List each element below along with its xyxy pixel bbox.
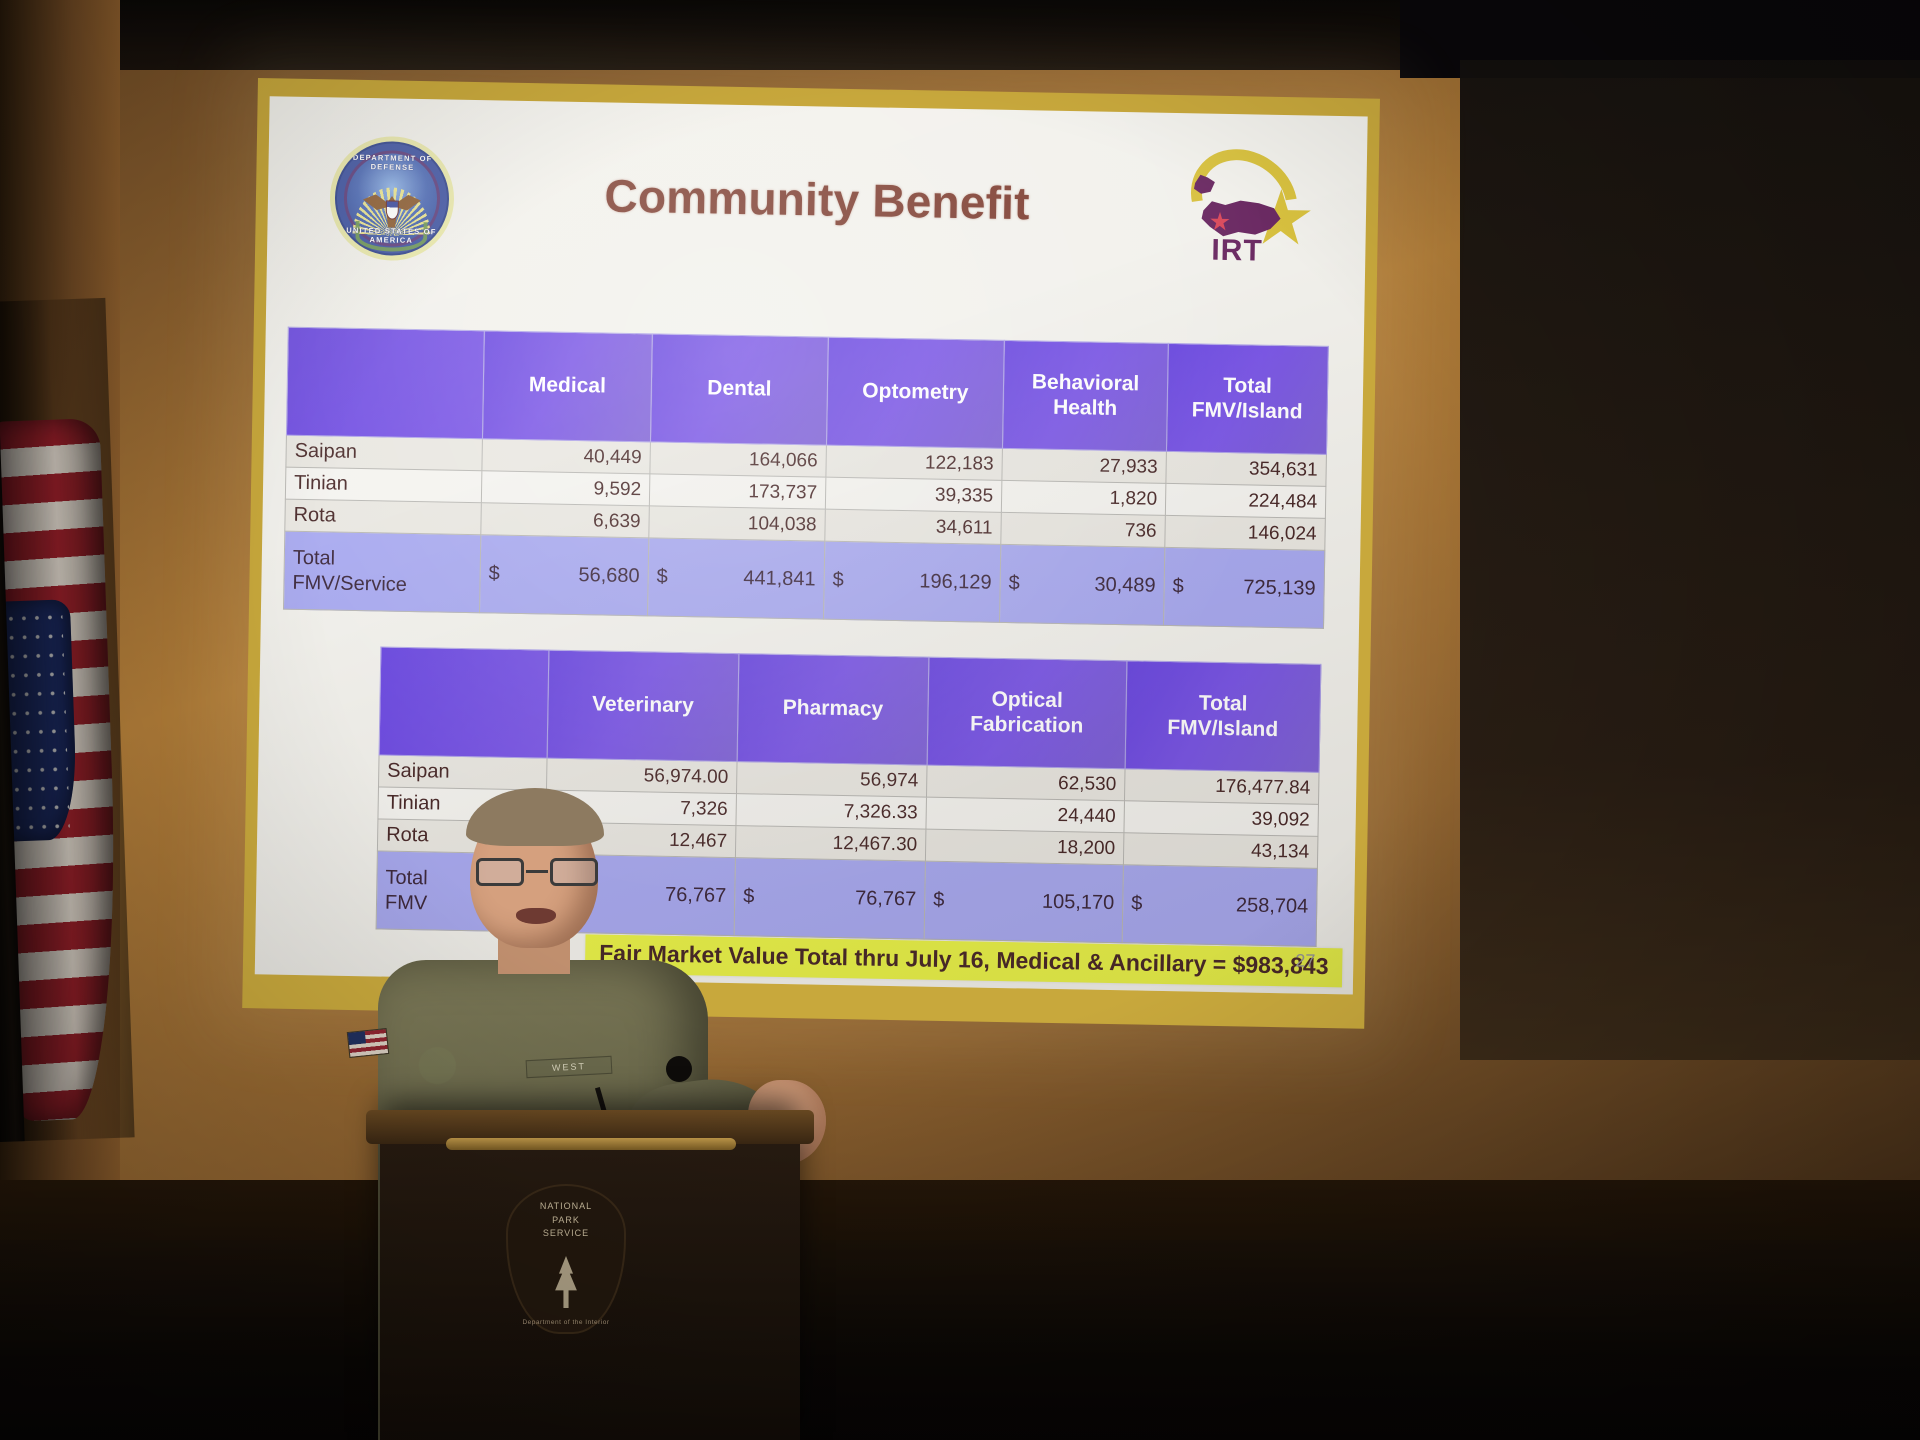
table1-rota-medical: 6,639 (481, 503, 650, 538)
table1-total-behavioral: $30,489 (999, 544, 1164, 625)
table1-tinian-total: 224,484 (1165, 483, 1326, 518)
table1-total-dental-value: 441,841 (743, 567, 816, 590)
currency-symbol: $ (1131, 892, 1143, 915)
table1-header-total-line1: Total (1223, 374, 1272, 398)
table1-saipan-dental: 164,066 (650, 442, 827, 477)
uniform-flag-patch (347, 1028, 389, 1058)
currency-symbol: $ (933, 889, 945, 912)
table1-header-total-fmv-island: Total FMV/Island (1166, 343, 1328, 454)
podium: NATIONAL PARK SERVICE Department of the … (380, 1110, 800, 1440)
currency-symbol: $ (1008, 572, 1020, 595)
table2-header-optical-line2: Fabrication (970, 712, 1084, 737)
podium-brass-rail (446, 1138, 736, 1150)
table2-tinian-optical: 24,440 (926, 797, 1125, 833)
table1-total-label-line1: Total (293, 547, 336, 570)
table1-header-total-line2: FMV/Island (1192, 398, 1303, 423)
table2-header-veterinary: Veterinary (547, 650, 739, 762)
table1-header-optometry: Optometry (826, 337, 1004, 448)
table1-total-medical-value: 56,680 (578, 564, 640, 587)
table1-total-medical: $56,680 (479, 535, 648, 616)
table2-header-optical-line1: Optical (991, 688, 1063, 712)
eyeglass-lens-right (550, 858, 598, 886)
table1-total-grand: $725,139 (1163, 547, 1324, 628)
table2-header-optical-fabrication: Optical Fabrication (927, 657, 1127, 769)
nps-badge-line3: SERVICE (508, 1227, 624, 1241)
table1-saipan-medical: 40,449 (482, 439, 651, 474)
wall-right-dark (1460, 60, 1920, 1060)
nps-badge-line2: PARK (508, 1214, 624, 1228)
table1-rota-dental: 104,038 (649, 506, 826, 541)
table2-rota-total: 43,134 (1123, 833, 1318, 869)
currency-symbol: $ (832, 569, 844, 592)
slide-page-number: 27 (1295, 950, 1315, 971)
table2-tinian-total: 39,092 (1124, 801, 1319, 837)
conference-room: DEPARTMENT OF DEFENSE UNITED STATES OF A… (0, 0, 1920, 1440)
table1-header-row: Medical Dental Optometry Behavioral Heal… (286, 327, 1328, 454)
community-benefit-table-primary: Medical Dental Optometry Behavioral Heal… (283, 327, 1329, 629)
floor (0, 1240, 1920, 1440)
table1-header-blank (286, 327, 484, 439)
table1-total-dental: $441,841 (647, 538, 824, 619)
nps-badge-subtext: Department of the Interior (508, 1318, 624, 1328)
irt-logo-icon: IRT (1185, 147, 1315, 265)
table1-header-behavioral-line2: Health (1053, 395, 1118, 419)
table1-saipan-total: 354,631 (1166, 451, 1327, 486)
table2-header-pharmacy: Pharmacy (737, 654, 929, 766)
table1-total-label: Total FMV/Service (283, 531, 480, 613)
table1-rota-behavioral: 736 (1001, 512, 1166, 547)
table1-total-grand-value: 725,139 (1243, 576, 1316, 599)
table1-tinian-optometry: 39,335 (825, 477, 1002, 512)
currency-symbol: $ (1172, 575, 1184, 598)
table1-header-behavioral-line1: Behavioral (1032, 371, 1140, 396)
table1-saipan-behavioral: 27,933 (1002, 448, 1167, 483)
table1-rota-optometry: 34,611 (825, 509, 1002, 544)
table1-header-dental: Dental (650, 334, 828, 445)
national-park-service-badge-icon: NATIONAL PARK SERVICE Department of the … (506, 1184, 626, 1334)
speaker-hair (466, 788, 604, 846)
table2-saipan-optical: 62,530 (926, 765, 1125, 801)
irt-logo-text: IRT (1211, 236, 1263, 267)
dod-seal-bottom-text: UNITED STATES OF AMERICA (334, 225, 448, 245)
table2-total-optical: $105,170 (924, 861, 1123, 943)
nps-tree-icon (550, 1256, 582, 1308)
table2-header-total-line1: Total (1199, 692, 1248, 716)
table1-total-optometry-value: 196,129 (919, 570, 992, 593)
currency-symbol: $ (656, 566, 668, 589)
eyeglasses-icon (476, 858, 598, 888)
table2-header-total-line2: FMV/Island (1167, 716, 1278, 741)
eyeglass-lens-left (476, 858, 524, 886)
table1-saipan-optometry: 122,183 (826, 445, 1003, 480)
table2-saipan-total: 176,477.84 (1124, 769, 1319, 805)
table1-header-behavioral-health: Behavioral Health (1002, 340, 1168, 451)
table2-total-grand-value: 258,704 (1236, 894, 1309, 917)
table1-row-label-saipan: Saipan (286, 435, 483, 471)
table2-header-blank (379, 647, 549, 758)
table1-header-medical: Medical (482, 331, 652, 442)
table2-header-total-fmv-island: Total FMV/Island (1125, 661, 1321, 773)
table1-rota-total: 146,024 (1165, 515, 1326, 550)
table1-total-label-line2: FMV/Service (292, 571, 407, 595)
table1-tinian-medical: 9,592 (481, 471, 650, 506)
table1-tinian-behavioral: 1,820 (1001, 480, 1166, 515)
table1-tinian-dental: 173,737 (649, 474, 826, 509)
nps-badge-line1: NATIONAL (508, 1200, 624, 1214)
table1-total-behavioral-value: 30,489 (1094, 574, 1156, 597)
currency-symbol: $ (488, 562, 500, 585)
table2-rota-optical: 18,200 (925, 829, 1124, 865)
microphone-head-right (666, 1056, 692, 1082)
table2-total-optical-value: 105,170 (1042, 891, 1115, 914)
table1-total-optometry: $196,129 (823, 541, 1000, 622)
table2-header-row: Veterinary Pharmacy Optical Fabrication … (379, 647, 1321, 772)
table1-row-label-tinian: Tinian (285, 467, 482, 503)
speaker-mouth (516, 908, 556, 924)
table1-row-label-rota: Rota (285, 499, 482, 535)
table2-total-grand: $258,704 (1122, 865, 1317, 947)
eyeglass-bridge (526, 870, 548, 873)
